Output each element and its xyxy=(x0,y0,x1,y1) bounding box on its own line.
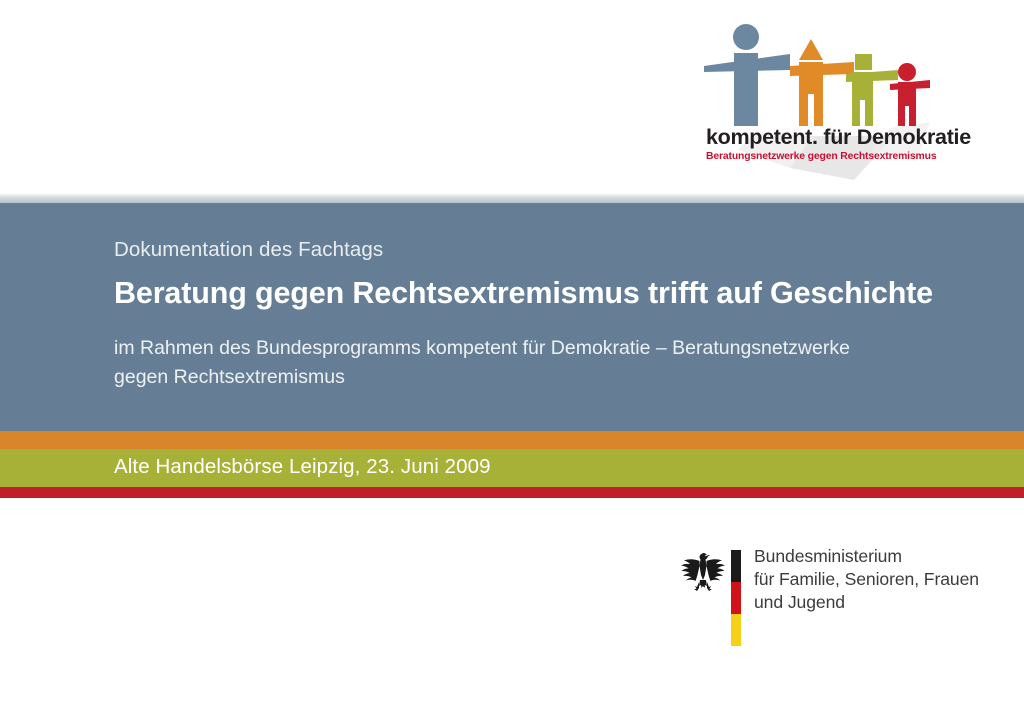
cover-header-area: kompetent. für Demokratie Beratungsnetzw… xyxy=(0,0,1024,193)
ministry-name: Bundesministerium für Familie, Senioren,… xyxy=(754,545,979,614)
figure-orange xyxy=(790,39,854,126)
ministry-line-3: und Jugend xyxy=(754,591,979,614)
subtitle-line-1: im Rahmen des Bundesprogramms kompetent … xyxy=(114,334,950,363)
band-gradient-divider xyxy=(0,193,1024,203)
program-logo-tagline: Beratungsnetzwerke gegen Rechtsextremism… xyxy=(706,151,934,162)
subtitle-line-2: gegen Rechtsextremismus xyxy=(114,363,950,392)
ministry-logo: Bundesministerium für Familie, Senioren,… xyxy=(680,545,980,649)
program-logo: kompetent. für Demokratie Beratungsnetzw… xyxy=(694,18,940,186)
flag-segment-gold xyxy=(731,614,741,646)
ministry-line-1: Bundesministerium xyxy=(754,545,979,568)
german-flag-bar xyxy=(731,550,741,646)
figure-blue xyxy=(704,24,790,126)
flag-segment-red xyxy=(731,582,741,614)
logo-figures xyxy=(694,18,940,138)
accent-band-orange xyxy=(0,431,1024,449)
program-logo-wordmark: kompetent. für Demokratie xyxy=(706,125,934,150)
bundesadler-icon xyxy=(680,549,726,597)
page-title: Beratung gegen Rechtsextremismus trifft … xyxy=(114,276,933,311)
ministry-line-2: für Familie, Senioren, Frauen xyxy=(754,568,979,591)
accent-band-red xyxy=(0,487,1024,498)
subtitle: im Rahmen des Bundesprogramms kompetent … xyxy=(114,334,950,392)
kicker-text: Dokumentation des Fachtags xyxy=(114,238,383,262)
venue-date-text: Alte Handelsbörse Leipzig, 23. Juni 2009 xyxy=(114,455,491,479)
flag-segment-black xyxy=(731,550,741,582)
